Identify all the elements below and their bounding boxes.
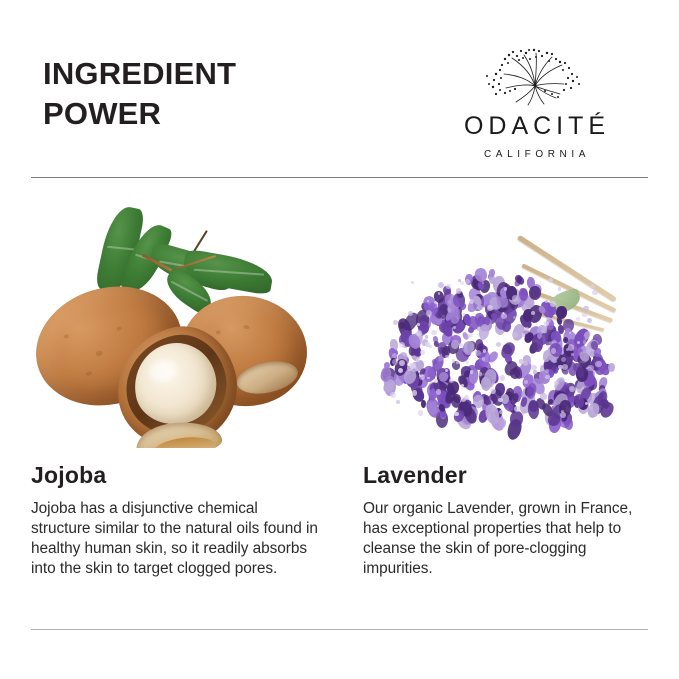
lavender-floret-highlight [464, 395, 469, 400]
lavender-floret-highlight [571, 353, 574, 356]
lavender-floret-highlight [416, 358, 420, 362]
lavender-floret-highlight [431, 330, 436, 335]
ingredient-power-card: INGREDIENT POWER [0, 0, 679, 679]
lavender-floret-highlight [501, 313, 507, 319]
jojoba-nuts-photo [31, 200, 347, 448]
lavender-floret [463, 340, 476, 355]
lavender-floret-highlight [496, 342, 501, 347]
lavender-floret-highlight [587, 318, 592, 323]
cracked-nut-shape [106, 317, 248, 448]
lavender-floret [519, 287, 529, 300]
lavender-floret-highlight [398, 368, 403, 373]
lavender-floret [529, 285, 541, 299]
lavender-floret-highlight [411, 281, 414, 284]
lavender-floret-highlight [569, 332, 572, 335]
lavender-floret-highlight [477, 327, 481, 331]
lavender-floret-highlight [487, 305, 493, 311]
lavender-floret-highlight [407, 365, 413, 371]
lavender-floret-highlight [533, 370, 536, 373]
divider-top [31, 177, 648, 178]
lavender-floret-highlight [476, 307, 480, 311]
lavender-floret [608, 363, 615, 372]
lavender-floret-highlight [587, 365, 593, 371]
lavender-floret-highlight [425, 335, 428, 338]
lavender-floret-highlight [522, 412, 525, 415]
lavender-floret-highlight [583, 340, 587, 344]
lavender-floret-highlight [585, 402, 588, 405]
lavender-floret-highlight [417, 323, 420, 326]
lavender-floret-highlight [446, 284, 451, 289]
lavender-floret [510, 368, 520, 379]
page-title: INGREDIENT POWER [43, 54, 236, 133]
lavender-floret-highlight [576, 317, 580, 321]
lavender-floret-highlight [426, 310, 432, 316]
nut-crack-shape [234, 356, 301, 398]
lavender-floret-highlight [438, 282, 444, 288]
lavender-floret [502, 320, 511, 331]
lavender-floret-highlight [490, 388, 496, 394]
lavender-floret-highlight [460, 281, 464, 285]
lavender-floret-highlight [453, 326, 456, 329]
lavender-floret-highlight [427, 377, 430, 380]
lavender-floret-highlight [445, 355, 449, 359]
lavender-floret-highlight [466, 361, 469, 364]
lavender-floret [500, 418, 507, 428]
lavender-floret-highlight [449, 378, 454, 383]
lavender-floret-highlight [582, 313, 586, 317]
lavender-floret-highlight [412, 390, 417, 395]
lavender-floret-highlight [456, 361, 459, 364]
ingredient-card-jojoba: Jojoba Jojoba has a disjunctive chemical… [31, 200, 347, 579]
lavender-floret-highlight [500, 375, 505, 380]
lavender-floret-highlight [512, 332, 518, 338]
lavender-floret-highlight [469, 299, 474, 304]
lavender-floret-highlight [461, 384, 464, 387]
lavender-floret-highlight [577, 341, 580, 344]
ingredient-title: Jojoba [31, 464, 347, 487]
ingredient-description: Jojoba has a disjunctive chemical struct… [31, 499, 321, 579]
lavender-floret-highlight [512, 295, 518, 301]
lavender-floret-highlight [523, 361, 528, 366]
lavender-floret-highlight [390, 392, 396, 398]
lavender-floret-highlight [399, 342, 405, 348]
brand-wordmark: ODACITÉ [427, 114, 642, 139]
lavender-floret-highlight [592, 290, 598, 296]
ingredient-title: Lavender [363, 464, 648, 487]
lavender-floret-highlight [438, 292, 441, 295]
lavender-floret-highlight [418, 410, 423, 415]
card-header: INGREDIENT POWER [31, 46, 648, 166]
lavender-floret-highlight [393, 320, 398, 325]
lavender-floret-highlight [558, 287, 561, 290]
lavender-floret-highlight [452, 359, 456, 363]
brand-tagline: CALIFORNIA [427, 150, 642, 160]
ingredient-columns: Jojoba Jojoba has a disjunctive chemical… [31, 200, 648, 579]
lavender-floret-highlight [499, 410, 503, 414]
lavender-floret-highlight [482, 357, 486, 361]
lavender-text-block: Lavender Our organic Lavender, grown in … [347, 464, 648, 579]
lavender-floret-highlight [568, 344, 575, 351]
lavender-floret [488, 269, 495, 278]
lavender-floret-highlight [595, 361, 601, 367]
lavender-floret-highlight [399, 360, 405, 366]
lavender-floret-highlight [478, 372, 482, 376]
lavender-floret-highlight [545, 300, 548, 303]
lavender-floret-highlight [416, 330, 422, 336]
umbel-flower-icon [472, 46, 598, 108]
lavender-floret-highlight [540, 393, 547, 400]
brand-logo: ODACITÉ CALIFORNIA [427, 46, 642, 160]
divider-bottom [31, 629, 648, 630]
jojoba-text-block: Jojoba Jojoba has a disjunctive chemical… [31, 464, 347, 579]
lavender-floret-highlight [550, 301, 556, 307]
lavender-floret-highlight [396, 400, 399, 403]
ingredient-description: Our organic Lavender, grown in France, h… [363, 499, 655, 579]
lavender-floret-highlight [475, 350, 481, 356]
lavender-floret-highlight [429, 345, 432, 348]
lavender-floret-highlight [483, 349, 487, 353]
lavender-floret-highlight [419, 374, 425, 380]
lavender-floret-highlight [463, 313, 466, 316]
lavender-floret-highlight [548, 278, 553, 283]
lavender-bunch-photo [357, 200, 658, 448]
ingredient-card-lavender: Lavender Our organic Lavender, grown in … [347, 200, 648, 579]
lavender-floret-highlight [420, 350, 425, 355]
lavender-floret-highlight [454, 412, 458, 416]
lavender-floret-highlight [513, 316, 517, 320]
